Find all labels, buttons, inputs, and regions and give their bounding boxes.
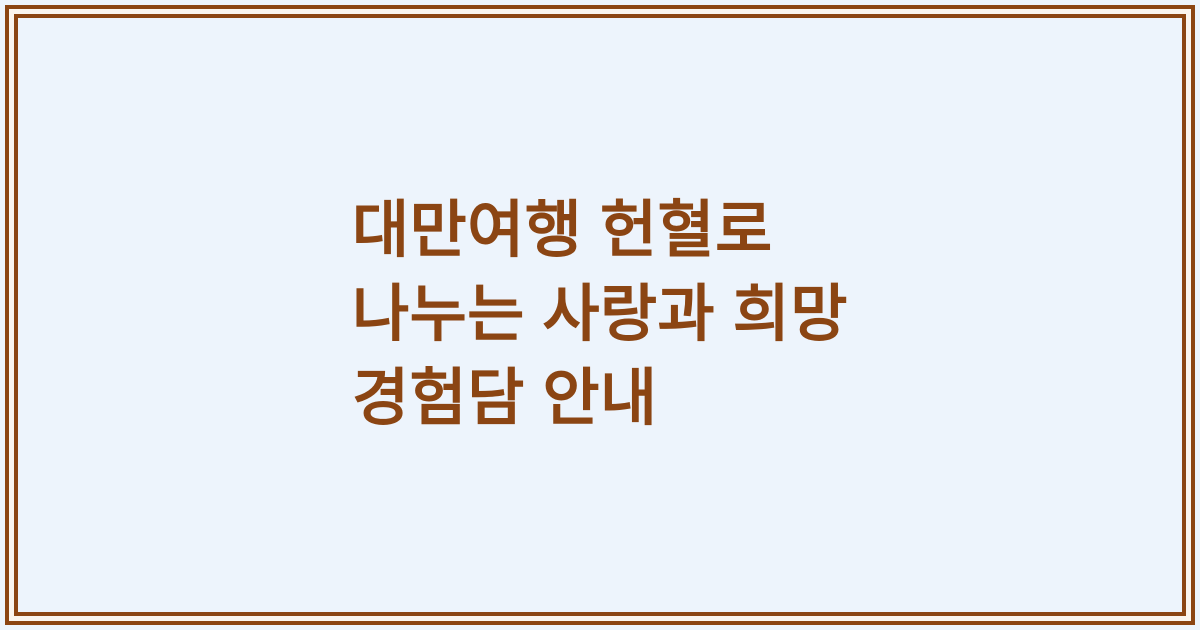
banner-card: 대만여행 헌혈로 나누는 사랑과 희망 경험담 안내 — [0, 0, 1200, 630]
title-line-2: 나누는 사랑과 희망 — [352, 273, 848, 357]
page-title: 대만여행 헌혈로 나누는 사랑과 희망 경험담 안내 — [352, 189, 848, 441]
title-line-1: 대만여행 헌혈로 — [352, 189, 848, 273]
banner-content: 대만여행 헌혈로 나누는 사랑과 희망 경험담 안내 — [18, 18, 1182, 612]
title-line-3: 경험담 안내 — [352, 357, 848, 441]
